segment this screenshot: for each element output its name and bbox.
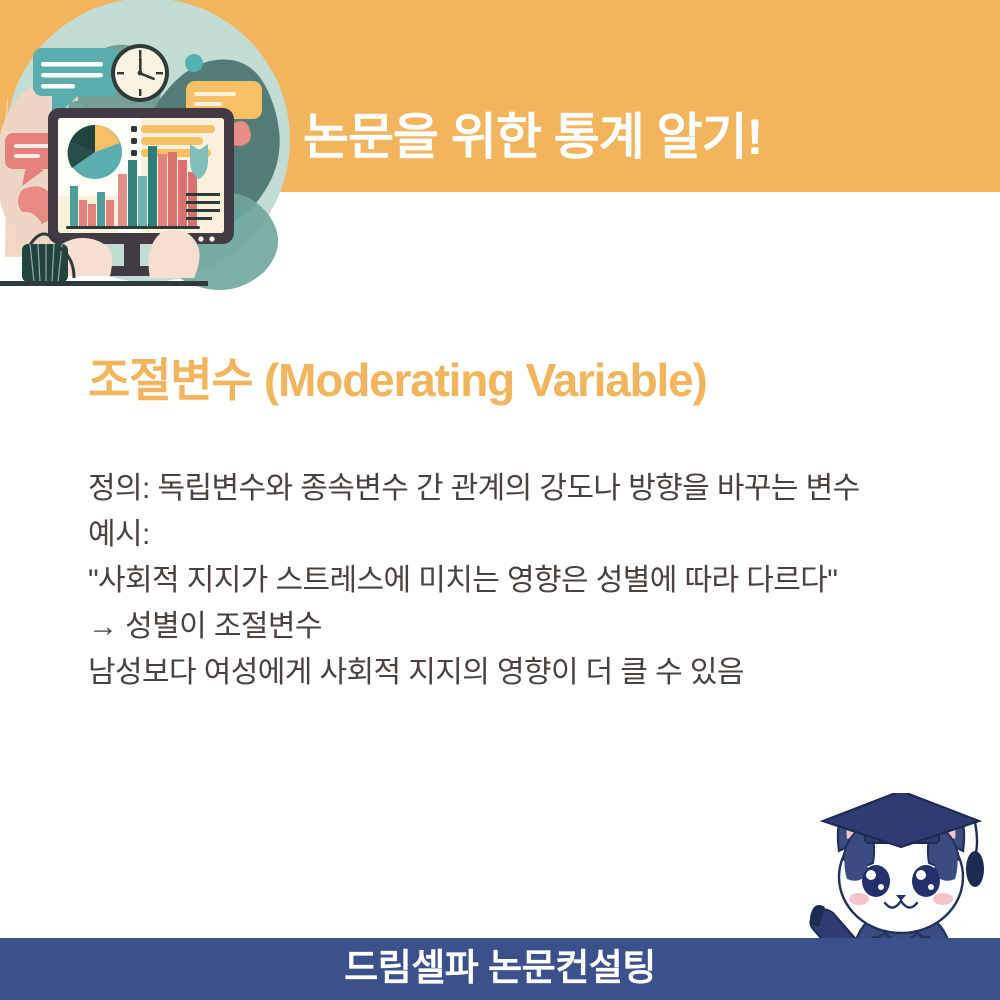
- body-text-block: 정의: 독립변수와 종속변수 간 관계의 강도나 방향을 바꾸는 변수 예시: …: [88, 466, 948, 696]
- clock-icon: [111, 44, 169, 102]
- right-eye: [912, 865, 940, 897]
- section-heading: 조절변수 (Moderating Variable): [88, 355, 707, 406]
- right-cheek: [933, 893, 953, 905]
- body-line-note: 남성보다 여성에게 사회적 지지의 영향이 더 클 수 있음: [88, 650, 948, 696]
- body-line-definition: 정의: 독립변수와 종속변수 간 관계의 강도나 방향을 바꾸는 변수: [88, 466, 948, 512]
- hero-illustration: [0, 0, 300, 290]
- decor-dot: [185, 54, 203, 72]
- statistics-dashboard-illustration: [0, 0, 300, 290]
- body-line-example-label: 예시:: [88, 512, 948, 558]
- cap-tassel: [966, 851, 984, 887]
- pie-chart: [68, 125, 122, 179]
- body-line-conclusion: → 성별이 조절변수: [88, 604, 948, 650]
- brand-name: 드림셀파 논문컨설팅: [0, 948, 1000, 989]
- body-line-example-quote: "사회적 지지가 스트레스에 미치는 영향은 성별에 따라 다르다": [88, 558, 948, 604]
- page-title: 논문을 위한 통계 알기!: [303, 112, 762, 162]
- left-eye: [862, 865, 890, 897]
- left-cheek: [849, 893, 869, 905]
